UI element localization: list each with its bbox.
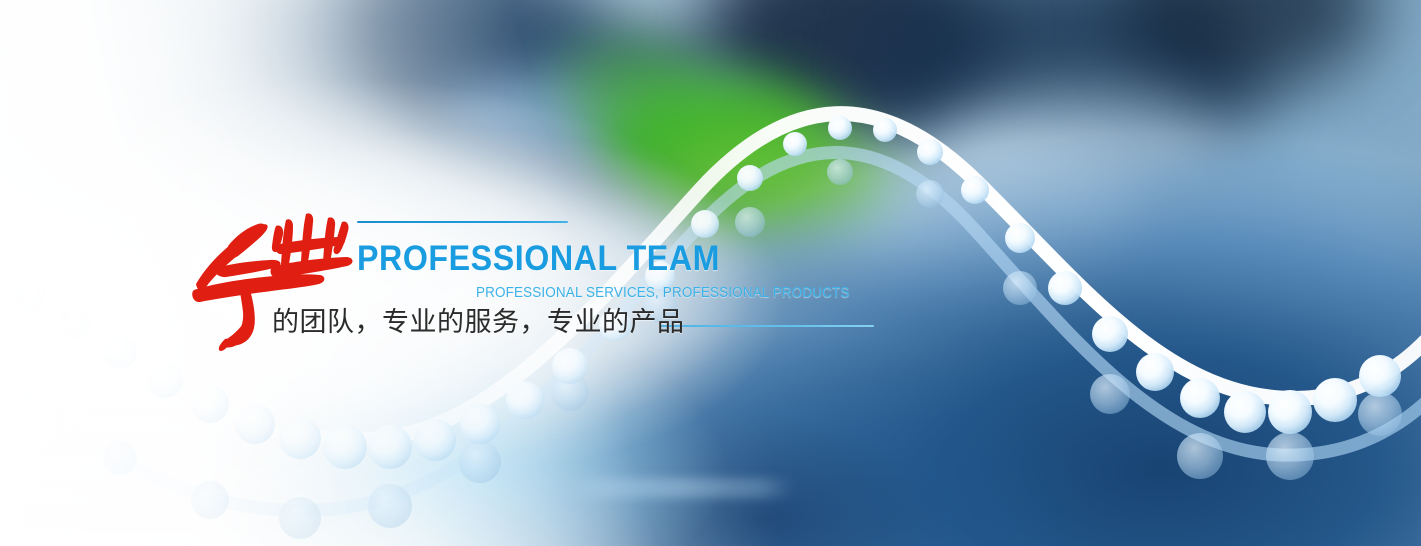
banner-chinese-tagline: 的团队，专业的服务，专业的产品 bbox=[272, 307, 685, 338]
decorative-rule-bottom bbox=[661, 325, 874, 327]
banner-subheadline: PROFESSIONAL SERVICES, PROFESSIONAL PROD… bbox=[476, 286, 850, 301]
banner-text-block: PROFESSIONAL TEAM PROFESSIONAL SERVICES,… bbox=[0, 0, 1421, 546]
decorative-rule-top bbox=[357, 221, 568, 223]
hero-banner: PROFESSIONAL TEAM PROFESSIONAL SERVICES,… bbox=[0, 0, 1421, 546]
banner-headline: PROFESSIONAL TEAM bbox=[357, 241, 720, 276]
